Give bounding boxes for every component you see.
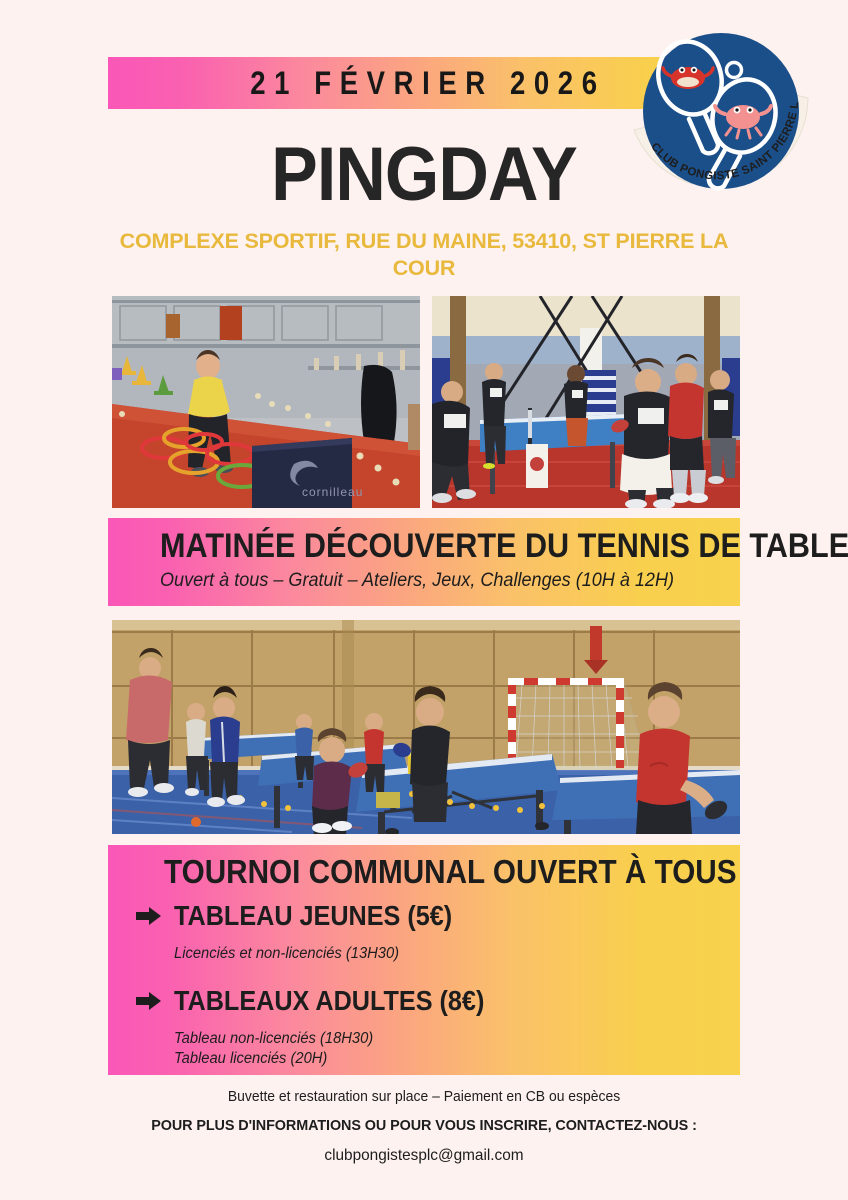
entry-title-jeunes: TABLEAU JEUNES (5€) — [174, 900, 452, 932]
entry-detail-jeunes-1: Licenciés et non-licenciés (13H30) — [174, 944, 468, 964]
morning-session-subtitle: Ouvert à tous – Gratuit – Ateliers, Jeux… — [160, 570, 674, 592]
tournament-entry-jeunes: TABLEAU JEUNES (5€) Licenciés et non-lic… — [136, 900, 483, 964]
tournament-banner: TOURNOI COMMUNAL OUVERT À TOUS TABLEAU J… — [108, 845, 740, 1075]
page-title: PINGDAY — [34, 134, 814, 216]
photo-gym-wide — [112, 620, 740, 834]
arrow-right-icon — [136, 991, 162, 1011]
footer-note: Buvette et restauration sur place – Paie… — [117, 1089, 731, 1105]
footer-contact-line: POUR PLUS D'INFORMATIONS OU POUR VOUS IN… — [117, 1117, 731, 1134]
entry-title-row: TABLEAU JEUNES (5€) — [136, 900, 483, 932]
date-text: 21 FÉVRIER 2026 — [242, 65, 606, 102]
entry-title-adultes: TABLEAUX ADULTES (8€) — [174, 985, 484, 1017]
venue-address: COMPLEXE SPORTIF, RUE DU MAINE, 53410, S… — [104, 228, 744, 282]
svg-text:cornilleau: cornilleau — [302, 485, 363, 499]
tournament-heading: TOURNOI COMMUNAL OUVERT À TOUS — [164, 852, 737, 892]
morning-session-heading: MATINÉE DÉCOUVERTE DU TENNIS DE TABLE — [160, 526, 848, 566]
footer-email[interactable]: clubpongistesplc@gmail.com — [117, 1147, 731, 1165]
photo-kid-workshop: cornilleau — [112, 296, 420, 508]
entry-detail-adultes-2: Tableau licenciés (20H) — [174, 1049, 502, 1069]
photo-adults-match — [432, 296, 740, 508]
entry-detail-adultes-1: Tableau non-licenciés (18H30) — [174, 1029, 502, 1049]
poster-root: 21 FÉVRIER 2026 — [0, 0, 848, 1200]
tournament-entry-adultes: TABLEAUX ADULTES (8€) Tableau non-licenc… — [136, 985, 519, 1069]
entry-title-row: TABLEAUX ADULTES (8€) — [136, 985, 519, 1017]
arrow-right-icon — [136, 906, 162, 926]
morning-session-banner: MATINÉE DÉCOUVERTE DU TENNIS DE TABLE Ou… — [108, 518, 740, 606]
